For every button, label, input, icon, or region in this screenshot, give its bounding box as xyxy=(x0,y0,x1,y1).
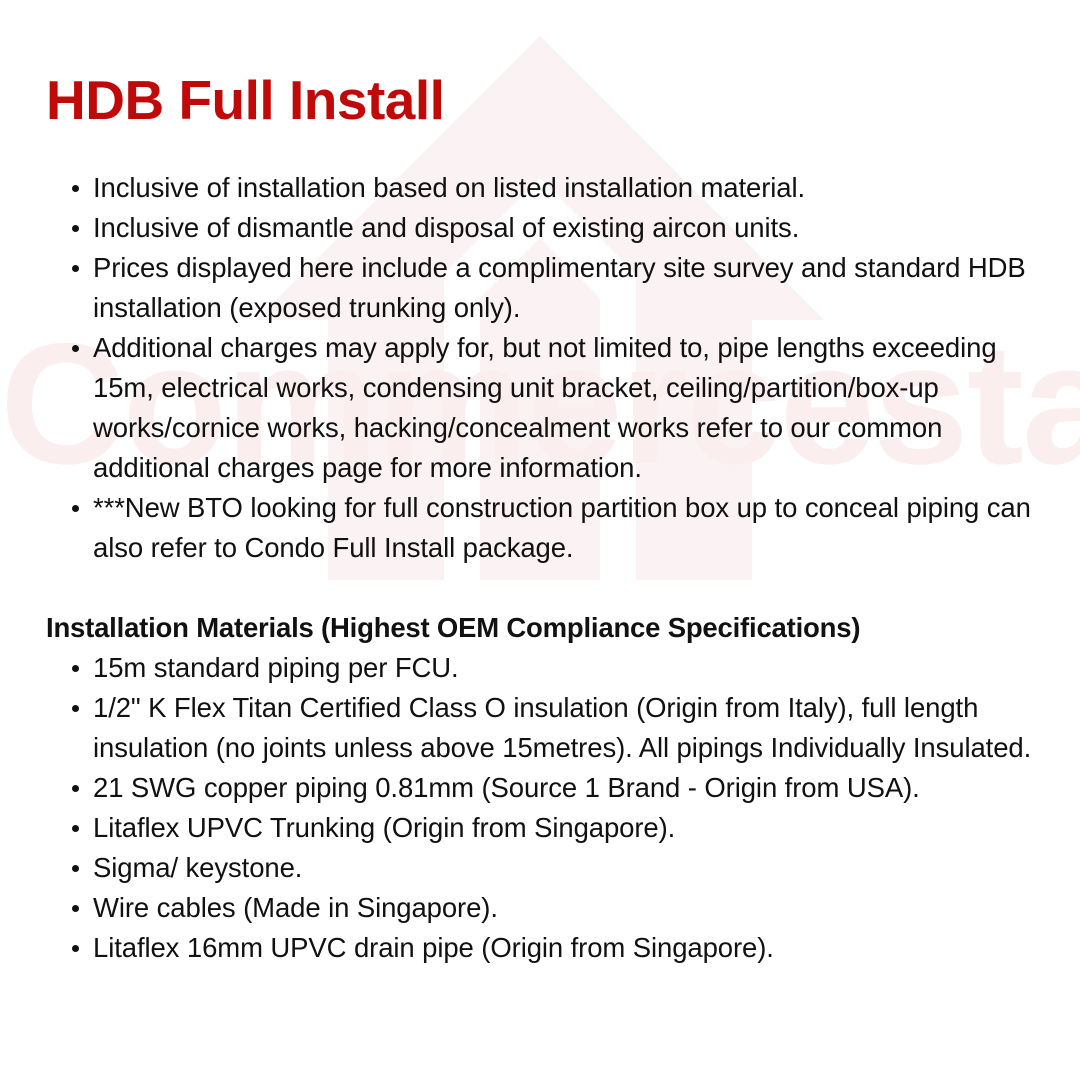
promo-card: Commercestar HDB Full Install Inclusive … xyxy=(0,0,1080,1080)
list-item: Inclusive of dismantle and disposal of e… xyxy=(46,208,1038,248)
section-spacer xyxy=(46,568,1038,608)
list-item: Inclusive of installation based on liste… xyxy=(46,168,1038,208)
installation-materials-list: 15m standard piping per FCU. 1/2" K Flex… xyxy=(46,648,1038,968)
installation-materials-heading: Installation Materials (Highest OEM Comp… xyxy=(46,608,1038,648)
list-item: 21 SWG copper piping 0.81mm (Source 1 Br… xyxy=(46,768,1038,808)
list-item: 1/2" K Flex Titan Certified Class O insu… xyxy=(46,688,1038,768)
package-notes-list: Inclusive of installation based on liste… xyxy=(46,168,1038,568)
list-item: Additional charges may apply for, but no… xyxy=(46,328,1038,488)
list-item: 15m standard piping per FCU. xyxy=(46,648,1038,688)
list-item: ***New BTO looking for full construction… xyxy=(46,488,1038,568)
list-item: Litaflex UPVC Trunking (Origin from Sing… xyxy=(46,808,1038,848)
list-item: Sigma/ keystone. xyxy=(46,848,1038,888)
body-block: Inclusive of installation based on liste… xyxy=(46,168,1038,968)
list-item: Wire cables (Made in Singapore). xyxy=(46,888,1038,928)
page-title: HDB Full Install xyxy=(46,70,444,131)
list-item: Litaflex 16mm UPVC drain pipe (Origin fr… xyxy=(46,928,1038,968)
list-item: Prices displayed here include a complime… xyxy=(46,248,1038,328)
